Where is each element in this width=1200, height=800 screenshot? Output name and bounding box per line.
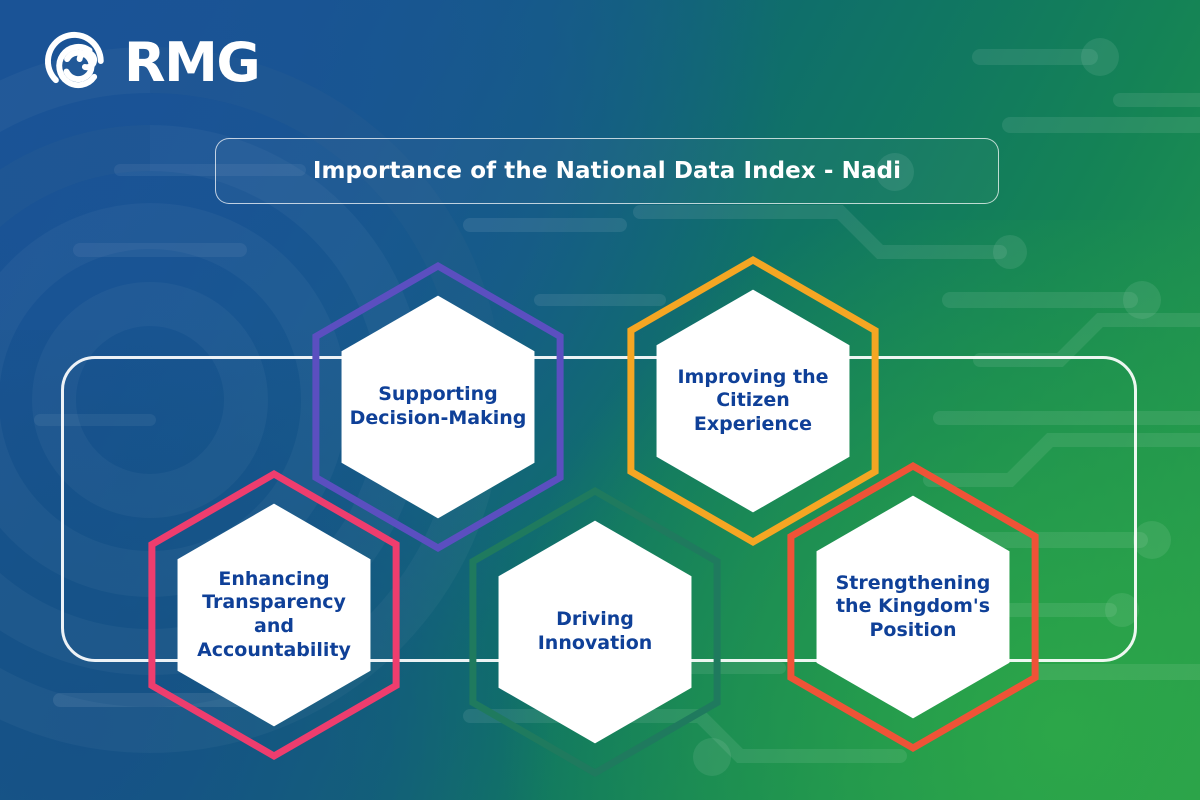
brand-name: RMG (124, 36, 259, 90)
hexagon-strengthening-kingdoms-position[interactable]: Strengthening the Kingdom's Position (768, 462, 1058, 752)
brand-logo[interactable]: RMG (44, 30, 259, 96)
hexagon-fill (817, 496, 1010, 719)
rmg-spiral-logo-icon (44, 30, 110, 96)
hexagon-fill (178, 504, 371, 727)
title-banner: Importance of the National Data Index - … (215, 138, 999, 204)
page-title: Importance of the National Data Index - … (313, 158, 901, 184)
infographic-canvas: RMG Importance of the National Data Inde… (0, 0, 1200, 800)
hexagon-fill (499, 521, 692, 744)
hexagon-enhancing-transparency-accountability[interactable]: Enhancing Transparency and Accountabilit… (129, 470, 419, 760)
hexagon-driving-innovation[interactable]: Driving Innovation (450, 487, 740, 777)
